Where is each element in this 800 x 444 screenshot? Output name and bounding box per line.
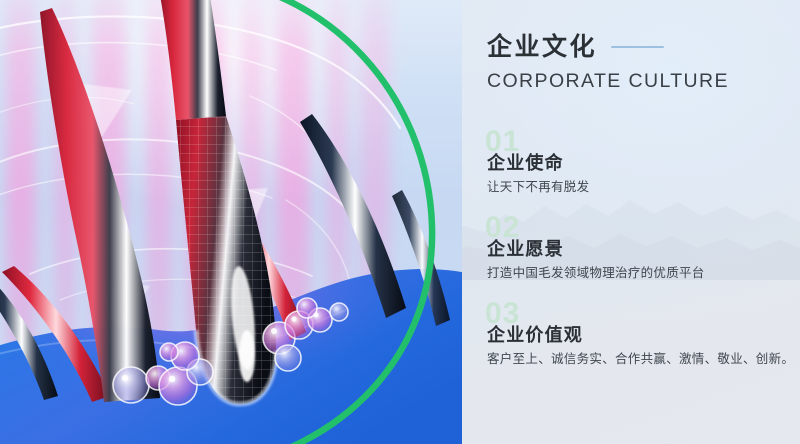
culture-item-list: 01 企业使命 让天下不再有脱发 02 企业愿景 打造中国毛发领域物理治疗的优质… [487,128,800,386]
page-title: 企业文化 [487,35,597,60]
item-description: 客户至上、诚信务实、合作共赢、激情、敬业、创新。 [487,348,794,367]
item-heading: 企业价值观 [487,321,583,347]
list-item: 02 企业愿景 打造中国毛发领域物理治疗的优质平台 [487,214,800,300]
page-subtitle: CORPORATE CULTURE [487,70,729,93]
item-heading: 企业使命 [487,149,564,175]
culture-content: 企业文化 CORPORATE CULTURE 01 企业使命 让天下不再有脱发 … [487,0,800,444]
list-item: 01 企业使命 让天下不再有脱发 [487,128,800,214]
slide-canvas: 企业文化 CORPORATE CULTURE 01 企业使命 让天下不再有脱发 … [0,0,800,444]
section-title: 企业文化 [487,35,664,60]
list-item: 03 企业价值观 客户至上、诚信务实、合作共赢、激情、敬业、创新。 [487,300,800,386]
item-heading: 企业愿景 [487,235,564,261]
item-description: 让天下不再有脱发 [487,176,589,195]
title-rule-decoration [611,46,664,48]
hair-follicle-illustration [0,0,462,444]
bubbles-decoration [0,0,462,444]
item-description: 打造中国毛发领域物理治疗的优质平台 [487,262,705,281]
